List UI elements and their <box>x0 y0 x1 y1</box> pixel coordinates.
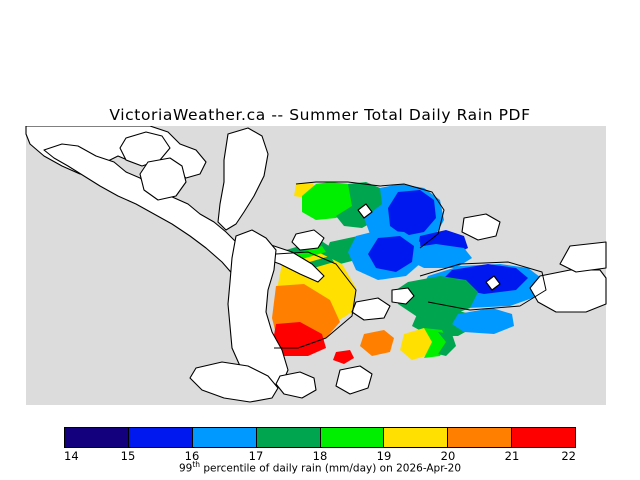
colorbar-bands[interactable] <box>64 427 576 448</box>
map-panel[interactable] <box>0 126 640 406</box>
colorbar-band-14-15[interactable] <box>65 428 129 447</box>
caption-rest: percentile of daily rain (mm/day) on 202… <box>200 463 461 475</box>
colorbar-caption: 99th percentile of daily rain (mm/day) o… <box>0 460 640 475</box>
colorbar-band-15-16[interactable] <box>129 428 193 447</box>
colorbar-band-18-19[interactable] <box>321 428 385 447</box>
colorbar-band-21-22[interactable] <box>512 428 575 447</box>
colorbar-band-16-17[interactable] <box>193 428 257 447</box>
page-title: VictoriaWeather.ca -- Summer Total Daily… <box>0 106 640 124</box>
weather-map-figure: VictoriaWeather.ca -- Summer Total Daily… <box>0 0 640 480</box>
colorbar-band-20-21[interactable] <box>448 428 512 447</box>
contour-map[interactable] <box>0 126 640 406</box>
colorbar[interactable] <box>64 427 576 448</box>
colorbar-band-19-20[interactable] <box>384 428 448 447</box>
colorbar-band-17-18[interactable] <box>257 428 321 447</box>
caption-superscript: th <box>192 460 200 469</box>
caption-prefix: 99 <box>179 463 192 475</box>
